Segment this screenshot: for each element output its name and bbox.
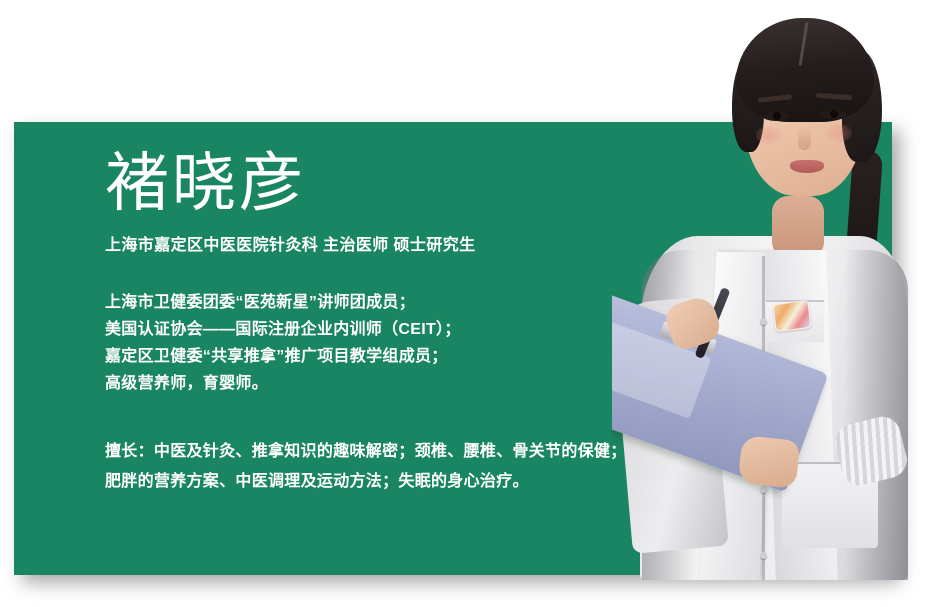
pupil-right — [830, 110, 838, 118]
doctor-info-block: 褚晓彦 上海市嘉定区中医医院针灸科 主治医师 硕士研究生 上海市卫健委团委“医苑… — [105, 150, 705, 497]
profile-card-canvas: 褚晓彦 上海市嘉定区中医医院针灸科 主治医师 硕士研究生 上海市卫健委团委“医苑… — [0, 0, 939, 607]
hand-holding — [738, 435, 801, 489]
neck — [772, 196, 824, 258]
coat-button — [760, 318, 767, 325]
credentials-list: 上海市卫健委团委“医苑新星”讲师团成员； 美国认证协会——国际注册企业内训师（C… — [105, 289, 705, 397]
specialty-block: 擅长：中医及针灸、推拿知识的趣味解密；颈椎、腰椎、骨关节的保健； 肥胖的营养方案… — [105, 437, 705, 497]
doctor-title-line: 上海市嘉定区中医医院针灸科 主治医师 硕士研究生 — [105, 231, 705, 255]
coat-button — [760, 552, 767, 559]
lapel-badge-icon — [772, 300, 811, 332]
cheek-left — [756, 126, 782, 144]
cheek-right — [826, 124, 852, 142]
specialty-line: 肥胖的营养方案、中医调理及运动方法；失眠的身心治疗。 — [105, 467, 705, 497]
credential-item: 嘉定区卫健委“共享推拿”推广项目教学组成员； — [105, 343, 705, 370]
coat-button — [760, 486, 767, 493]
pupil-left — [773, 112, 781, 120]
credential-item: 高级营养师，育婴师。 — [105, 370, 705, 397]
doctor-name: 褚晓彦 — [105, 150, 705, 217]
credential-item: 上海市卫健委团委“医苑新星”讲师团成员； — [105, 289, 705, 316]
credential-item: 美国认证协会——国际注册企业内训师（CEIT）； — [105, 316, 705, 343]
lips — [790, 160, 824, 173]
nose — [798, 126, 811, 150]
specialty-line: 擅长：中医及针灸、推拿知识的趣味解密；颈椎、腰椎、骨关节的保健； — [105, 437, 705, 467]
